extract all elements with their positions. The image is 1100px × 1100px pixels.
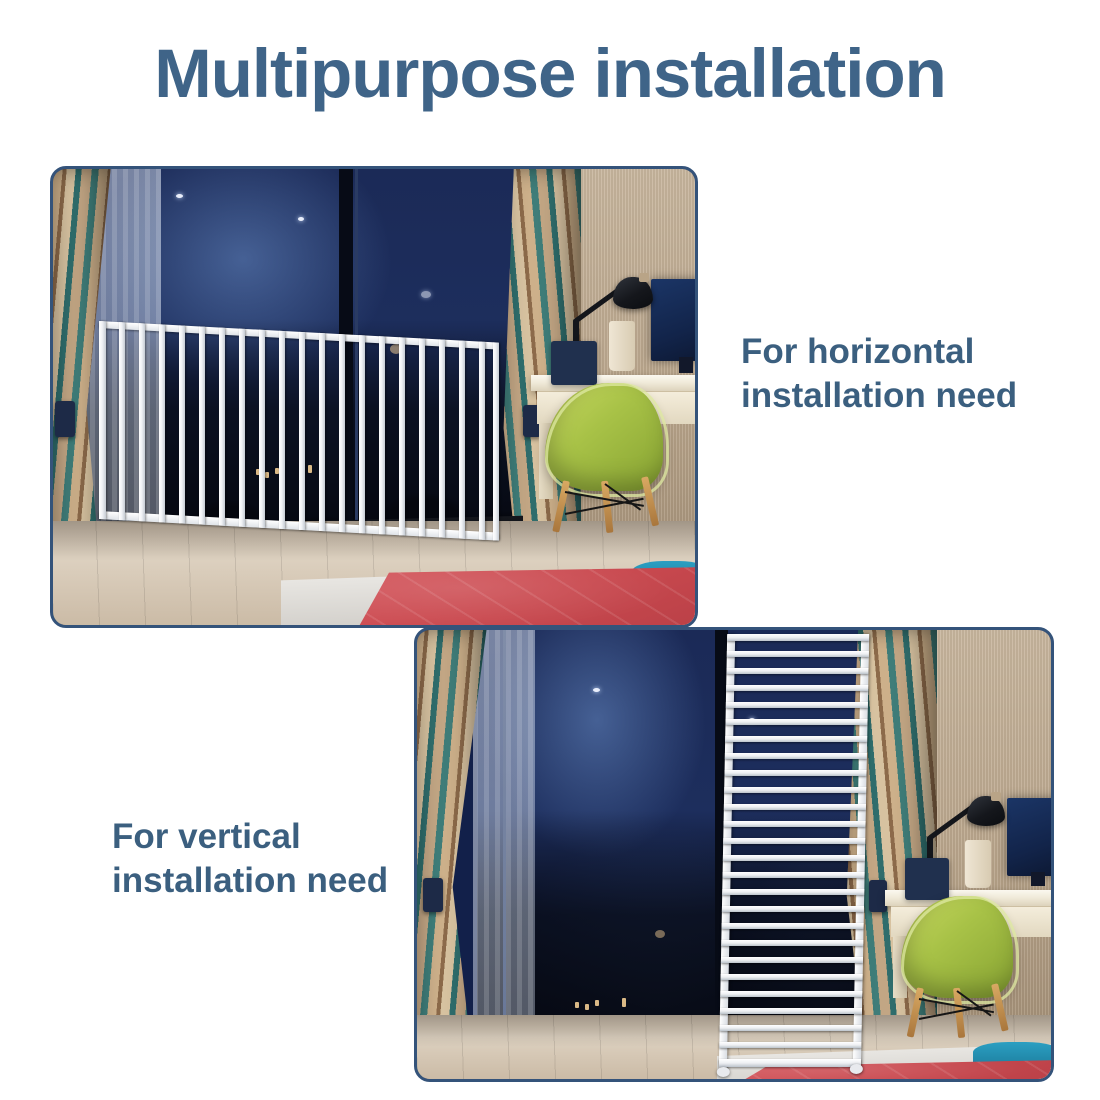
horizontal-installation-photo [50, 166, 698, 628]
gate-bar [720, 991, 862, 997]
gate-bar [379, 336, 385, 534]
product-feature-image: Multipurpose installation [0, 0, 1100, 1100]
desk-cup [965, 840, 991, 888]
lamp-joint [991, 792, 1001, 801]
gate-bar [722, 906, 864, 912]
moon-glow [421, 291, 431, 298]
caption-vertical-line1: For vertical [112, 815, 442, 859]
city-light [575, 1002, 579, 1008]
caption-horizontal-line1: For horizontal [741, 330, 1071, 374]
caption-horizontal-line2: installation need [741, 374, 1071, 418]
gate-bar [723, 855, 865, 861]
gate-bar [724, 804, 866, 810]
caption-horizontal: For horizontal installation need [741, 330, 1071, 419]
storage-box [905, 858, 949, 900]
gate-bar [719, 1042, 861, 1048]
gate-bar [259, 330, 265, 528]
gate-bar [721, 974, 863, 980]
gate-bar [720, 1025, 862, 1031]
gate-bar-end [493, 342, 499, 540]
city-light [585, 1004, 589, 1010]
curtain-tieback-left [55, 401, 75, 437]
sheer-curtain [473, 630, 535, 1079]
gate-bar [727, 651, 869, 657]
city-light [622, 998, 626, 1007]
gate-bar [219, 327, 225, 525]
gate-bar [139, 323, 145, 521]
gate-bar [723, 872, 865, 878]
gate-bar [726, 685, 868, 691]
gate-bar [399, 337, 405, 535]
gate-bar [279, 331, 285, 529]
gate-bar [726, 668, 868, 674]
safety-gate-vertical [719, 634, 869, 1072]
city-light [655, 930, 665, 938]
bedroom-scene-horizontal [53, 169, 695, 625]
gate-bar [179, 325, 185, 523]
gate-bar [723, 838, 865, 844]
ceiling-light-reflection-2 [298, 217, 304, 221]
city-light [595, 1000, 599, 1006]
monitor-stand [1031, 872, 1045, 886]
lamp-joint [639, 273, 649, 282]
gate-bar [299, 332, 305, 530]
gate-bar [359, 335, 365, 533]
gate-bar [119, 322, 125, 520]
desk-cup [609, 321, 635, 371]
vertical-installation-photo [414, 627, 1054, 1082]
ceiling-light-reflection [593, 688, 600, 692]
caption-vertical-line2: installation need [112, 859, 442, 903]
gate-bar [319, 333, 325, 531]
ceiling-light-reflection [176, 194, 183, 198]
gate-bar [99, 321, 106, 519]
gate-bar [199, 326, 205, 524]
gate-bar [239, 329, 245, 527]
safety-gate-horizontal [99, 321, 499, 541]
gate-bar [722, 889, 864, 895]
gate-bar [721, 957, 863, 963]
monitor [651, 279, 695, 361]
bedroom-scene-vertical [417, 630, 1051, 1079]
gate-bar [419, 338, 425, 536]
gate-bar [725, 753, 867, 759]
gate-bar-end [719, 1059, 861, 1067]
storage-box [551, 341, 597, 385]
gate-bar [720, 1008, 862, 1014]
gate-bar [721, 940, 863, 946]
monitor-stand [679, 357, 693, 373]
monitor [1007, 798, 1051, 876]
gate-bar [725, 719, 867, 725]
gate-bar [459, 340, 465, 538]
gate-bar [722, 923, 864, 929]
caption-vertical: For vertical installation need [112, 815, 442, 904]
gate-bar [724, 770, 866, 776]
gate-bar [723, 821, 865, 827]
gate-bar [479, 342, 485, 540]
gate-bar [724, 787, 866, 793]
gate-bar [439, 339, 445, 537]
gate-bar [339, 334, 345, 532]
page-title: Multipurpose installation [0, 38, 1100, 110]
gate-bar [726, 702, 868, 708]
gate-bar [159, 324, 165, 522]
floor-rug [353, 567, 695, 625]
gate-bar [725, 736, 867, 742]
gate-bar [727, 634, 869, 641]
